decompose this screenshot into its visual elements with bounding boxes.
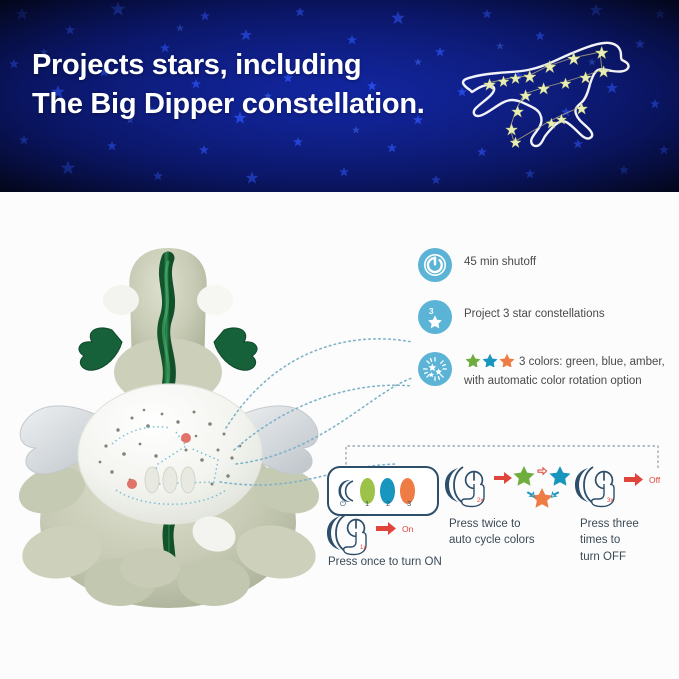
- green-star-icon: [466, 354, 481, 367]
- press-twice-diagram: 2x: [444, 464, 584, 516]
- feature-label-shutoff: 45 min shutoff: [464, 248, 668, 271]
- three-star-glyph: 3: [423, 305, 447, 329]
- starburst-glyph: [422, 356, 448, 382]
- ursa-major-bear-outline: [452, 30, 642, 160]
- headline-line-1: Projects stars, including: [32, 49, 361, 81]
- amber-star-icon: [500, 354, 515, 367]
- press-three-badge: 3x: [607, 498, 613, 504]
- control-panel-diagram: ⏻ 1 2 3: [327, 466, 439, 516]
- instruction-caption-twice: Press twice to auto cycle colors: [449, 516, 559, 549]
- three-color-stars: [464, 353, 516, 367]
- three-star-icon: 3: [418, 300, 452, 334]
- page-title: Projects stars, including The Big Dipper…: [32, 46, 425, 123]
- feature-label-constellations: Project 3 star constellations: [464, 300, 668, 323]
- feature-item-colors: 3 colors: green, blue, amber, with autom…: [418, 352, 668, 392]
- instruction-three-line2: times to: [580, 534, 620, 546]
- feature-item-shutoff: 45 min shutoff: [418, 248, 668, 288]
- body-section: 45 min shutoff 3 Project 3 star constell…: [0, 192, 679, 679]
- blue-star-icon: [483, 354, 498, 367]
- product-infographic: Projects stars, including The Big Dipper…: [0, 0, 679, 679]
- feature-label-colors: 3 colors: green, blue, amber, with autom…: [464, 352, 668, 389]
- headline-line-2: The Big Dipper constellation.: [32, 85, 425, 124]
- cycle-star-amber: [532, 488, 553, 508]
- feature-list: 45 min shutoff 3 Project 3 star constell…: [418, 248, 668, 404]
- power-button-label: ⏻: [340, 499, 346, 509]
- feature-label-colors-line1: 3 colors: green, blue, amber,: [519, 356, 665, 368]
- press-three-result: Off: [649, 475, 661, 485]
- button-2-label: 2: [386, 499, 390, 508]
- header-banner: Projects stars, including The Big Dipper…: [0, 0, 679, 192]
- big-dipper-constellation-icon: [452, 30, 642, 160]
- feature-item-constellations: 3 Project 3 star constellations: [418, 300, 668, 340]
- instruction-twice-line2: auto cycle colors: [449, 534, 535, 546]
- cycle-star-blue: [550, 466, 571, 486]
- instruction-three-line3: turn OFF: [580, 551, 626, 563]
- product-image-plush-dragon: [0, 222, 340, 642]
- feature-label-colors-line2: with automatic color rotation option: [464, 375, 642, 387]
- button-3-label: 3: [407, 499, 411, 508]
- button-1-label: 1: [365, 499, 369, 508]
- instruction-three-line1: Press three: [580, 518, 639, 530]
- press-once-result: On: [402, 524, 414, 534]
- instructions-section: ⏻ 1 2 3 1x On: [312, 454, 679, 584]
- instruction-twice-line1: Press twice to: [449, 518, 521, 530]
- press-once-diagram: 1x On: [326, 512, 446, 556]
- plush-dragon-illustration: [0, 222, 340, 642]
- svg-text:3: 3: [429, 306, 434, 316]
- cycle-star-green: [514, 466, 535, 486]
- instruction-caption-once: Press once to turn ON: [328, 554, 508, 570]
- press-once-badge: 1x: [360, 545, 366, 551]
- press-twice-badge: 2x: [477, 498, 483, 504]
- timer-power-glyph: [423, 253, 447, 277]
- press-three-diagram: 3x Off: [574, 464, 679, 512]
- timer-power-icon: [418, 248, 452, 282]
- color-star-row: [464, 353, 516, 373]
- instruction-caption-three: Press three times to turn OFF: [580, 516, 675, 565]
- starburst-icon: [418, 352, 452, 386]
